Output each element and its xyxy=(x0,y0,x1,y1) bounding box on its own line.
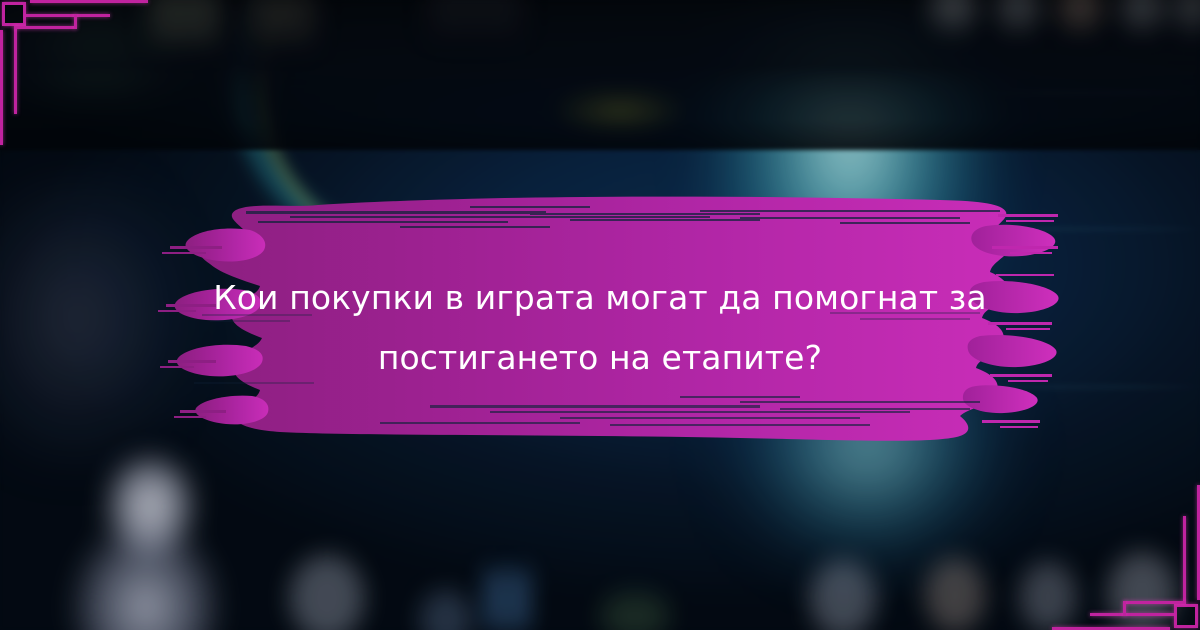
background-shelf-object xyxy=(996,0,1040,32)
corner-bar-elbow xyxy=(14,26,76,29)
corner-bar-elbow xyxy=(74,14,77,29)
background-figure-left xyxy=(40,455,270,630)
background-crowd-head xyxy=(487,570,503,630)
quote-card: Кои покупки в играта могат да помогнат з… xyxy=(0,0,1200,630)
background-shelf-object xyxy=(1058,0,1102,32)
background-crowd-head xyxy=(810,560,876,630)
background-shelf-object xyxy=(1120,0,1164,32)
background-crowd-head xyxy=(925,558,985,630)
brush-left-lobe xyxy=(185,228,265,261)
background-shelf-object xyxy=(250,0,314,44)
background-shelf-object xyxy=(930,0,976,32)
background-shelf-object xyxy=(150,0,220,46)
corner-bar-h xyxy=(30,0,148,3)
background-crowd-head xyxy=(600,592,670,630)
corner-bar-v xyxy=(0,30,3,145)
corner-bar-v xyxy=(1183,516,1186,604)
corner-square-icon xyxy=(1174,604,1198,628)
background-shelf-line xyxy=(980,92,1200,94)
brush-right-lobe xyxy=(963,385,1038,413)
background-crowd-head xyxy=(420,590,472,630)
background-crowd-head xyxy=(511,570,527,630)
corner-square-icon xyxy=(2,2,26,26)
background-yellow-spark xyxy=(560,86,680,134)
corner-bracket-top-left xyxy=(0,0,160,150)
background-crowd-head xyxy=(1108,552,1176,630)
quote-line-2: постигането на етапите? xyxy=(150,328,1050,388)
background-crowd-head xyxy=(290,555,364,630)
quote-line-1: Кои покупки в играта могат да помогнат з… xyxy=(150,268,1050,328)
corner-bar-v xyxy=(14,26,17,114)
background-shelf-object xyxy=(1172,0,1200,32)
background-shelf-object xyxy=(430,0,520,36)
corner-bar-h xyxy=(26,14,110,17)
background-crowd-head xyxy=(1020,562,1076,630)
quote-text: Кои покупки в играта могат да помогнат з… xyxy=(150,268,1050,388)
